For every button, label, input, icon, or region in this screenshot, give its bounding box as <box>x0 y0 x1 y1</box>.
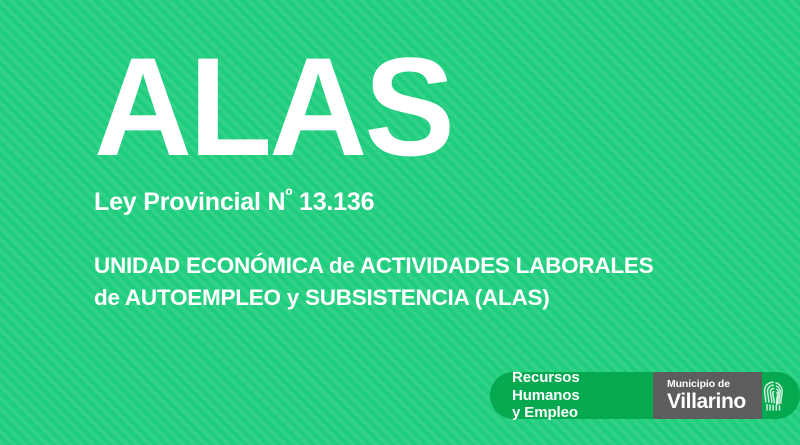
logo-municipality-kicker: Municipio de <box>667 379 730 390</box>
law-reference: Ley Provincial Nº 13.136 <box>94 188 754 217</box>
logo-municipality-name: Villarino <box>667 391 746 412</box>
fingerprint-icon <box>760 380 786 412</box>
page-title: ALAS <box>94 50 734 165</box>
law-reference-number: 13.136 <box>292 188 374 216</box>
subtitle-line-1: UNIDAD ECONÓMICA de ACTIVIDADES LABORALE… <box>94 250 754 282</box>
subtitle-line-2: de AUTOEMPLEO y SUBSISTENCIA (ALAS) <box>94 282 754 314</box>
headline-block: ALAS Ley Provincial Nº 13.136 UNIDAD ECO… <box>94 50 754 314</box>
logo-department-label: Recursos Humanos y Empleo <box>512 369 639 422</box>
alas-promotional-banner: ALAS Ley Provincial Nº 13.136 UNIDAD ECO… <box>0 0 800 445</box>
law-reference-prefix: Ley Provincial N <box>94 188 285 216</box>
institutional-logo-lockup: Recursos Humanos y Empleo Municipio de V… <box>490 372 800 419</box>
logo-department-segment: Recursos Humanos y Empleo <box>490 372 653 419</box>
subtitle: UNIDAD ECONÓMICA de ACTIVIDADES LABORALE… <box>94 250 754 314</box>
